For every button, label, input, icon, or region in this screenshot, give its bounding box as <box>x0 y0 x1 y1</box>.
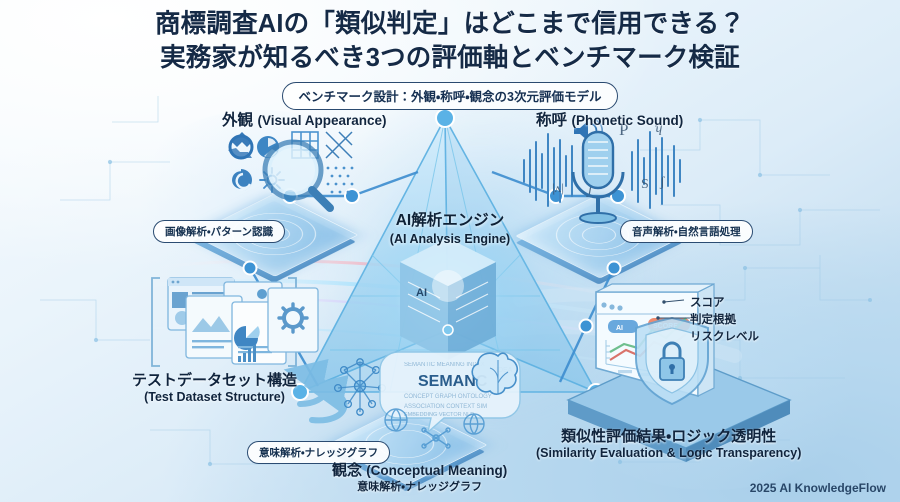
axis-title-conceptual-jp: 観念 <box>332 462 362 479</box>
axis-pill-phonetic: 音声解析・自然言語処理 <box>620 220 753 243</box>
svg-text:CONCEPT GRAPH ONTOLOGY: CONCEPT GRAPH ONTOLOGY <box>404 394 492 400</box>
knowledge-graph-icon <box>335 359 386 415</box>
header: 商標調査AIの「類似判定」はどこまで信用できる？ 実務家が知るべき3つの評価軸と… <box>0 8 900 110</box>
axis-label-conceptual-main: 観念 (Conceptual Meaning) <box>332 462 507 480</box>
axis-title-phonetic-en: (Phonetic Sound) <box>571 113 683 128</box>
axis-pill-visual: 画像解析・パターン認識 <box>153 220 285 243</box>
infographic-canvas: AI <box>0 0 900 502</box>
axis-title-phonetic: 称呼 (Phonetic Sound) <box>536 108 683 130</box>
results-callout-basis: 判定根拠 <box>690 311 736 327</box>
axis-title-visual: 外観 (Visual Appearance) <box>222 108 387 130</box>
axis-title-visual-jp: 外観 <box>222 112 253 129</box>
dataset-label-jp: テストデータセット構造 <box>132 372 297 390</box>
svg-text:ASSOCIATION CONTEXT SIM: ASSOCIATION CONTEXT SIM <box>404 404 487 410</box>
page-title-line1: 商標調査AIの「類似判定」はどこまで信用できる？ <box>0 8 900 42</box>
brain-icon <box>472 353 517 394</box>
page-title-line2: 実務家が知るべき3つの評価軸とベンチマーク検証 <box>0 42 900 76</box>
results-label-en: (Similarity Evaluation & Logic Transpare… <box>536 446 801 462</box>
axis-pill-conceptual: 意味解析・ナレッジグラフ <box>247 441 390 464</box>
results-callout-risk: リスクレベル <box>690 328 759 344</box>
axis-title-conceptual-en: (Conceptual Meaning) <box>366 463 507 478</box>
dataset-label-en: (Test Dataset Structure) <box>132 390 297 406</box>
axis-title-phonetic-jp: 称呼 <box>536 112 567 129</box>
axis-label-conceptual: 観念 (Conceptual Meaning) 意味解析・ナレッジグラフ <box>332 462 507 494</box>
results-label: 類似性評価結果・ロジック透明性 (Similarity Evaluation &… <box>536 428 801 462</box>
center-engine-label: AI解析エンジン (AI Analysis Engine) <box>375 212 525 247</box>
footer-credit: 2025 AI KnowledgeFlow <box>750 481 886 495</box>
results-callout-score: スコア <box>690 294 725 310</box>
center-engine-label-en: (AI Analysis Engine) <box>375 231 525 247</box>
dataset-label: テストデータセット構造 (Test Dataset Structure) <box>132 372 297 406</box>
center-engine-label-jp: AI解析エンジン <box>375 212 525 231</box>
axis-title-visual-en: (Visual Appearance) <box>257 113 386 128</box>
axis-label-conceptual-sub: 意味解析・ナレッジグラフ <box>332 480 507 494</box>
results-label-jp: 類似性評価結果・ロジック透明性 <box>536 428 801 446</box>
subtitle-pill: ベンチマーク設計：外観・称呼・観念の3次元評価モデル <box>282 82 619 110</box>
svg-text:EMBEDDING VECTOR NLP: EMBEDDING VECTOR NLP <box>404 412 474 418</box>
